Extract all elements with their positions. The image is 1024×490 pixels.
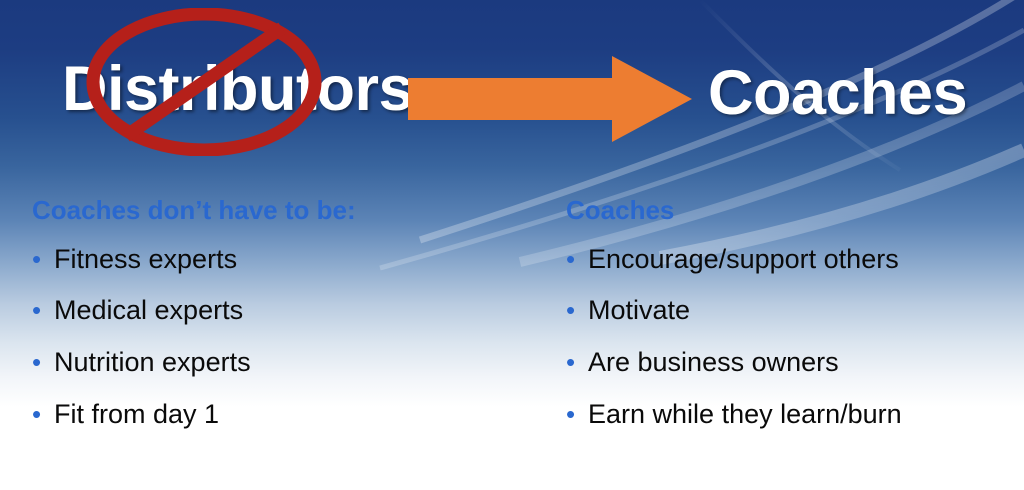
- bullet-list: • Fitness experts • Medical experts • Nu…: [32, 245, 542, 430]
- list-item: • Earn while they learn/burn: [566, 400, 1016, 430]
- list-item: • Motivate: [566, 296, 1016, 326]
- list-item: • Fitness experts: [32, 245, 542, 275]
- list-item: • Nutrition experts: [32, 348, 542, 378]
- list-item-label: Motivate: [588, 296, 690, 326]
- bullet-dot-icon: •: [32, 297, 54, 323]
- bullet-dot-icon: •: [32, 246, 54, 272]
- bullet-dot-icon: •: [566, 297, 588, 323]
- list-item-label: Medical experts: [54, 296, 243, 326]
- column-coaches-dont-have-to-be: Coaches don’t have to be: • Fitness expe…: [32, 196, 542, 429]
- list-item: • Fit from day 1: [32, 400, 542, 430]
- bullet-dot-icon: •: [566, 246, 588, 272]
- page-title-coaches: Coaches: [708, 62, 967, 125]
- list-item-label: Are business owners: [588, 348, 839, 378]
- column-coaches: Coaches • Encourage/support others • Mot…: [566, 196, 1016, 429]
- list-item: • Medical experts: [32, 296, 542, 326]
- list-item-label: Earn while they learn/burn: [588, 400, 902, 430]
- list-item-label: Encourage/support others: [588, 245, 899, 275]
- slide-canvas: Distributors Coaches Coaches don’t have …: [0, 0, 1024, 490]
- column-heading: Coaches: [566, 196, 1016, 225]
- no-entry-icon: [86, 8, 322, 156]
- list-item-label: Nutrition experts: [54, 348, 251, 378]
- list-item-label: Fitness experts: [54, 245, 237, 275]
- bullet-list: • Encourage/support others • Motivate • …: [566, 245, 1016, 430]
- list-item-label: Fit from day 1: [54, 400, 219, 430]
- column-heading: Coaches don’t have to be:: [32, 196, 542, 225]
- bullet-dot-icon: •: [32, 349, 54, 375]
- right-arrow-icon: [404, 52, 696, 146]
- bullet-dot-icon: •: [32, 401, 54, 427]
- bullet-dot-icon: •: [566, 401, 588, 427]
- header-band: Distributors Coaches: [0, 0, 1024, 180]
- bullet-dot-icon: •: [566, 349, 588, 375]
- list-item: • Are business owners: [566, 348, 1016, 378]
- list-item: • Encourage/support others: [566, 245, 1016, 275]
